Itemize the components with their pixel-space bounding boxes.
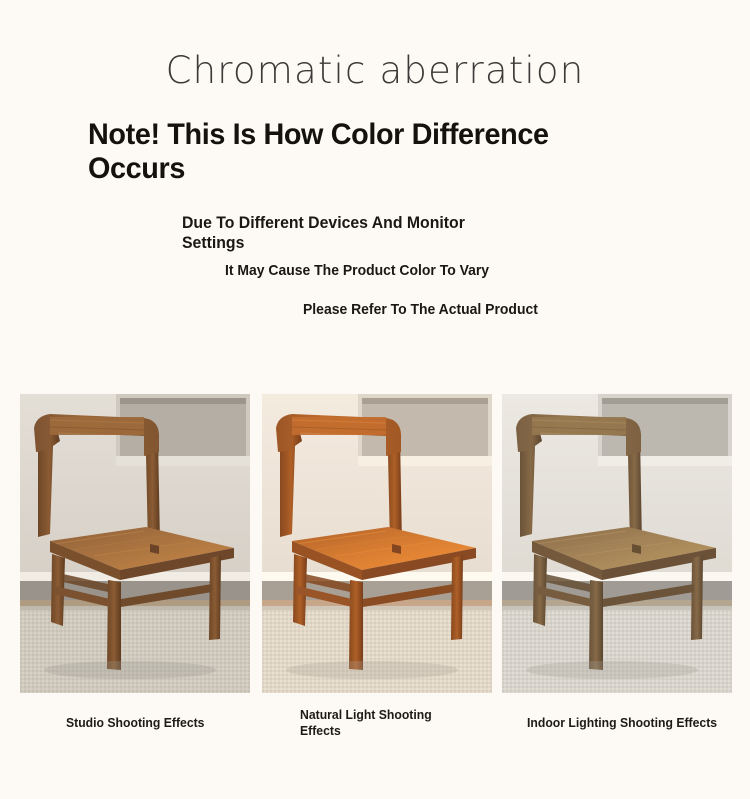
photo-caption-studio: Studio Shooting Effects <box>66 715 245 731</box>
photo-caption-indoor-lighting: Indoor Lighting Shooting Effects <box>527 715 729 731</box>
chair-photo-indoor-lighting[interactable] <box>502 394 732 693</box>
chair-photo-icon <box>502 394 732 693</box>
note-line-vary: It May Cause The Product Color To Vary <box>225 262 541 280</box>
comparison-gallery <box>0 394 750 694</box>
page-title: Note! This Is How Color Difference Occur… <box>88 118 587 185</box>
note-line-devices: Due To Different Devices And Monitor Set… <box>182 213 517 253</box>
photo-caption-natural-light: Natural Light Shooting Effects <box>300 707 436 740</box>
product-detail-page: Chromatic aberration Note! This Is How C… <box>0 0 750 799</box>
chair-photo-icon <box>262 394 492 693</box>
chair-photo-natural-light[interactable] <box>262 394 492 693</box>
chair-photo-studio[interactable] <box>20 394 250 693</box>
note-line-refer: Please Refer To The Actual Product <box>303 301 545 319</box>
chair-photo-icon <box>20 394 250 693</box>
page-kicker-title: Chromatic aberration <box>0 50 750 93</box>
